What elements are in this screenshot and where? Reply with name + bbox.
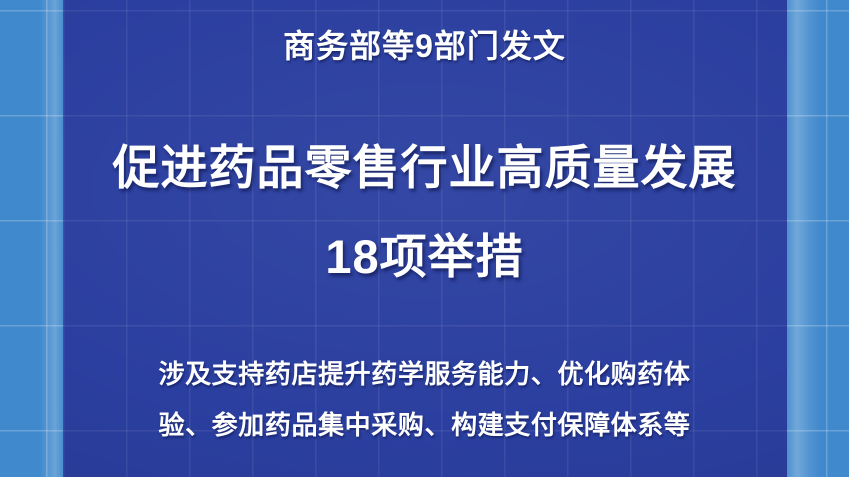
subtitle-line-1: 涉及支持药店提升药学服务能力、优化购药体: [0, 357, 849, 391]
subtitle-line-2: 验、参加药品集中采购、构建支付保障体系等: [0, 408, 849, 442]
poster-text-content: 商务部等9部门发文 促进药品零售行业高质量发展 18项举措 涉及支持药店提升药学…: [0, 0, 849, 477]
kicker-text: 商务部等9部门发文: [0, 26, 849, 66]
headline-line-1: 促进药品零售行业高质量发展: [0, 139, 849, 197]
news-poster: 商务部等9部门发文 促进药品零售行业高质量发展 18项举措 涉及支持药店提升药学…: [0, 0, 849, 477]
headline-line-2: 18项举措: [0, 228, 849, 286]
